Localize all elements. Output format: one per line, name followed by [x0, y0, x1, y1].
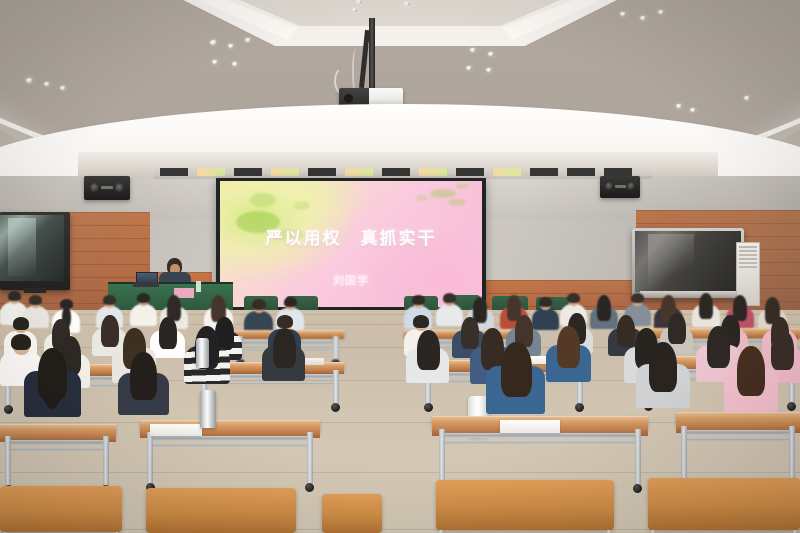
desk-leg: [5, 436, 11, 492]
ceiling-light-cell: [419, 168, 447, 176]
downlight-icon: [676, 104, 682, 108]
wall-speaker-right: [600, 176, 640, 198]
ceiling-light-cell: [308, 168, 336, 176]
slide-title: 严以用权 真抓实干: [222, 224, 480, 249]
audience-hair: [668, 313, 686, 344]
desk-caster: [331, 403, 340, 412]
audience-hair: [649, 342, 677, 392]
downlight-icon: [466, 66, 472, 70]
audience-hair: [103, 295, 116, 305]
audience-hair: [737, 346, 765, 396]
paper: [500, 420, 560, 433]
chair-back: [436, 480, 614, 530]
audience-hair: [631, 293, 644, 303]
desk-rail: [6, 448, 108, 451]
projector-mount-pole: [369, 18, 375, 92]
desk-rail: [6, 440, 108, 445]
downlight-icon: [210, 40, 217, 45]
audience-hair: [567, 293, 580, 303]
desk-caster: [305, 483, 314, 492]
wall-tv-right-glare: [648, 234, 694, 288]
desk-leg: [103, 436, 109, 492]
ceiling-light-cell: [160, 168, 188, 176]
downlight-icon: [26, 78, 33, 83]
lecture-hall-photo: 严以用权 真抓实干 刘国学: [0, 0, 800, 533]
audience-hair: [277, 315, 293, 328]
audience-hair: [130, 352, 157, 400]
ceiling-light-cell: [567, 168, 595, 176]
desk-caster: [575, 403, 584, 412]
audience-hair: [412, 295, 425, 305]
downlight-icon: [44, 82, 50, 86]
desk-caster: [787, 402, 796, 411]
desk-rail: [682, 430, 794, 435]
audience-member: [262, 330, 305, 384]
chair-back: [322, 494, 382, 533]
audience-hair: [13, 317, 29, 330]
audience-hair: [557, 326, 580, 368]
downlight-icon: [744, 96, 750, 100]
audience-member: [118, 354, 169, 419]
slide-subtitle: 刘国学: [222, 272, 480, 288]
projector-lens-icon: [344, 94, 353, 103]
downlight-icon: [640, 16, 646, 20]
audience-hair: [501, 342, 532, 397]
downlight-icon: [470, 48, 476, 52]
downlight-icon: [356, 0, 362, 4]
audience-hair: [284, 297, 297, 307]
audience-member: [486, 344, 545, 418]
ceiling-light-cell: [345, 168, 373, 176]
audience-hair: [413, 315, 429, 328]
thermos: [196, 338, 209, 368]
audience-ponytail: [42, 365, 62, 409]
desk-leg: [635, 429, 641, 491]
downlight-icon: [228, 44, 234, 48]
desk-top: [0, 424, 116, 436]
ceiling-light-cell: [234, 168, 262, 176]
ceiling-light-cell: [197, 168, 225, 176]
ceiling: [0, 0, 800, 185]
desk-caster: [424, 403, 433, 412]
audience-member: [724, 348, 778, 416]
downlight-icon: [245, 38, 251, 42]
desk: [0, 424, 116, 436]
downlight-icon: [486, 68, 492, 72]
desk-modesty-panel: [154, 436, 306, 476]
audience-hair: [29, 295, 42, 305]
audience-member: [546, 328, 591, 385]
ceiling-light-cell: [530, 168, 558, 176]
audience-member: [636, 344, 690, 412]
audience-hair: [252, 299, 266, 310]
ceiling-light-cell: [493, 168, 521, 176]
downlight-icon: [690, 108, 696, 112]
audience-hair: [443, 293, 456, 303]
downlight-icon: [352, 8, 357, 12]
ceiling-light-cell: [271, 168, 299, 176]
desk-leg: [147, 432, 153, 490]
audience-hair: [699, 293, 713, 319]
audience-hair: [11, 334, 31, 350]
desk-caster: [4, 405, 13, 414]
downlight-icon: [404, 2, 410, 6]
wall-speaker-left: [84, 176, 130, 200]
desk-modesty-panel: [446, 433, 634, 477]
downlight-icon: [488, 52, 494, 56]
downlight-icon: [658, 10, 664, 14]
audience-member: [24, 350, 81, 421]
desk-frame: [4, 436, 110, 492]
downlight-icon: [212, 60, 218, 64]
chair-back: [146, 488, 296, 533]
stage-water-bottle: [196, 281, 201, 292]
laptop-base: [133, 282, 159, 287]
audience-hair: [539, 297, 552, 307]
audience-hair: [8, 291, 21, 301]
audience-hair: [137, 293, 150, 303]
downlight-icon: [60, 86, 66, 90]
desk-rail: [682, 438, 794, 441]
ceiling-light-cell: [604, 168, 632, 176]
downlight-icon: [232, 62, 238, 66]
paper: [150, 424, 202, 436]
wall-tv-left-glare: [8, 218, 36, 276]
ceiling-light-cell: [456, 168, 484, 176]
audience-hair: [159, 317, 177, 349]
desk-caster: [633, 484, 642, 493]
audience-hair: [273, 328, 296, 368]
desk-leg: [307, 432, 313, 490]
air-conditioner-grill: [739, 246, 757, 268]
audience-member: [406, 332, 449, 386]
thermos: [200, 390, 216, 428]
ceiling-light-cell: [382, 168, 410, 176]
chair-back: [0, 486, 122, 532]
chair-back: [648, 478, 800, 530]
audience-hair: [417, 330, 440, 370]
downlight-icon: [620, 12, 626, 16]
